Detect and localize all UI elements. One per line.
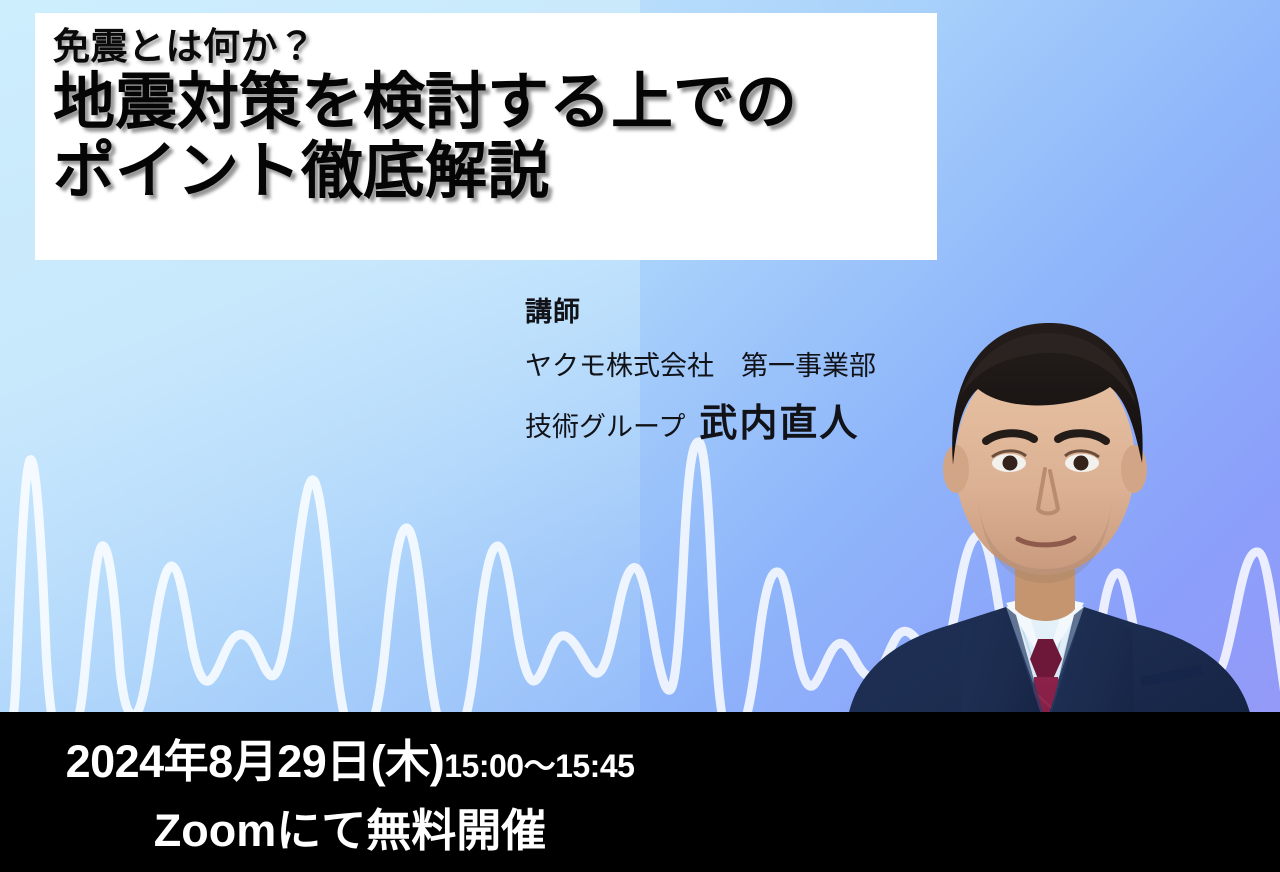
speaker-organization: ヤクモ株式会社 第一事業部	[525, 350, 945, 384]
speaker-department: 技術グループ	[525, 405, 685, 444]
speaker-dept-row: 技術グループ 武内直人	[525, 392, 945, 447]
page-title: 地震対策を検討する上での ポイント徹底解説	[53, 70, 937, 206]
title-line-2: 地震対策を検討する上での	[53, 70, 937, 137]
footer-text-block: 2024年8月29日(木) 15:00～15:45 Zoomにて無料開催	[0, 712, 700, 872]
title-panel: 免震とは何か？ 地震対策を検討する上での ポイント徹底解説	[35, 13, 937, 260]
webinar-banner: 免震とは何か？ 地震対策を検討する上での ポイント徹底解説 講師 ヤクモ株式会社…	[0, 0, 1280, 872]
seismograph-waveform	[0, 430, 1280, 715]
event-time: 15:00～15:45	[444, 741, 634, 787]
footer-schedule-line: 2024年8月29日(木) 15:00～15:45	[66, 725, 635, 790]
speaker-role-label: 講師	[525, 296, 945, 328]
speaker-name: 武内直人	[699, 392, 859, 447]
speaker-credit: 講師 ヤクモ株式会社 第一事業部 技術グループ 武内直人	[525, 296, 945, 447]
event-platform: Zoomにて無料開催	[154, 794, 546, 859]
event-date: 2024年8月29日(木)	[66, 725, 445, 790]
title-line-3: ポイント徹底解説	[53, 139, 937, 206]
title-kicker: 免震とは何か？	[53, 27, 937, 68]
footer-bar: 2024年8月29日(木) 15:00～15:45 Zoomにて無料開催	[0, 712, 1280, 872]
